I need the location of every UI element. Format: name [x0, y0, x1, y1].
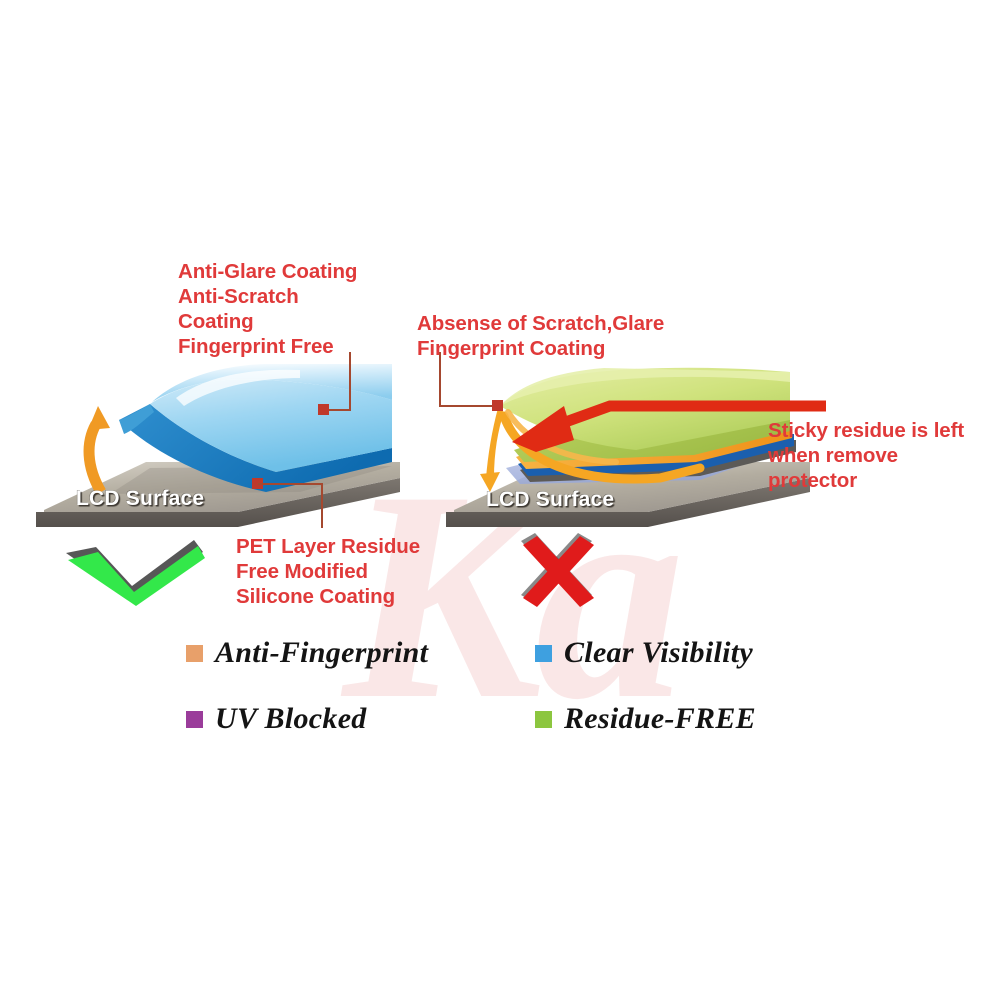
peel-direction-arrow-left	[89, 424, 101, 492]
legend-swatch-icon	[535, 645, 552, 662]
legend-label: Clear Visibility	[564, 636, 753, 670]
legend-item-anti-fingerprint: Anti-Fingerprint	[186, 636, 428, 670]
legend-item-clear-visibility: Clear Visibility	[535, 636, 753, 670]
legend-item-uv-blocked: UV Blocked	[186, 702, 367, 736]
lcd-surface-label-left: LCD Surface	[76, 487, 204, 511]
peel-arrow-head-left	[88, 406, 110, 430]
diagram-canvas: Ka	[0, 0, 1000, 1000]
legend-swatch-icon	[186, 711, 203, 728]
annotation-pet-layer: PET Layer Residue Free Modified Silicone…	[236, 534, 420, 609]
lcd-surface-label-right: LCD Surface	[486, 488, 614, 512]
feature-legend: Anti-Fingerprint Clear Visibility UV Blo…	[186, 624, 816, 744]
annotation-anti-glare: Anti-Glare Coating Anti-Scratch Coating …	[178, 259, 357, 359]
legend-label: Anti-Fingerprint	[215, 636, 428, 670]
annotation-sticky-residue: Sticky residue is left when remove prote…	[768, 418, 964, 493]
legend-label: UV Blocked	[215, 702, 367, 736]
leader-dot-absense	[492, 400, 503, 411]
legend-swatch-icon	[186, 645, 203, 662]
cross-mark-icon	[521, 533, 594, 607]
annotation-absense-of-scratch: Absense of Scratch,Glare Fingerprint Coa…	[417, 311, 664, 361]
legend-swatch-icon	[535, 711, 552, 728]
legend-item-residue-free: Residue-FREE	[535, 702, 756, 736]
leader-dot-anti-glare	[318, 404, 329, 415]
check-mark-icon	[66, 540, 205, 606]
legend-label: Residue-FREE	[564, 702, 756, 736]
